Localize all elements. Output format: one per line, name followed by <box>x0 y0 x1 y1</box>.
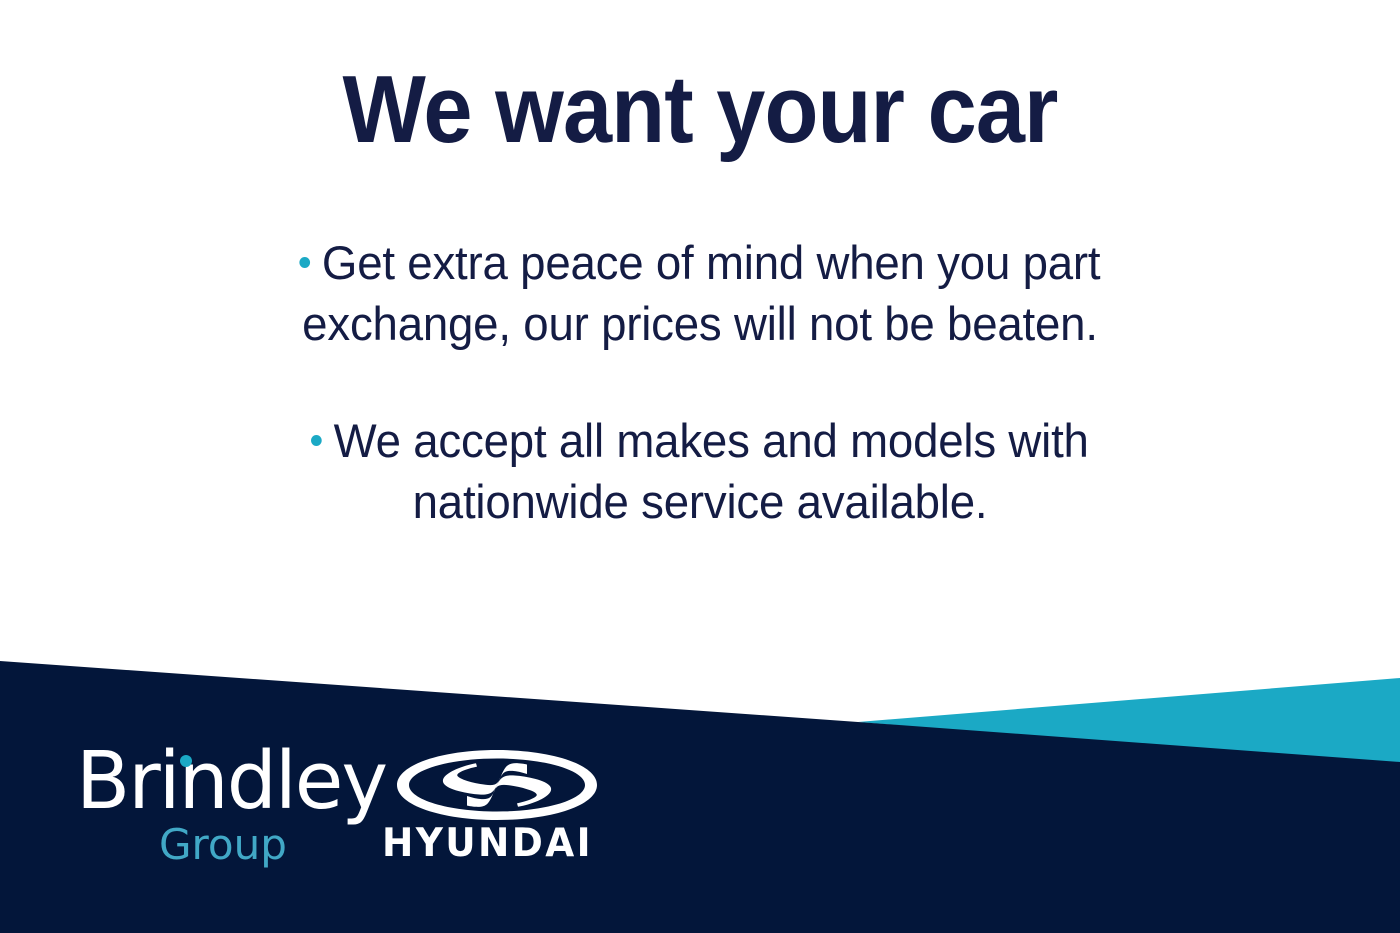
list-item: We accept all makes and models with nati… <box>205 410 1194 532</box>
hyundai-logo: HYUNDAI <box>382 742 612 874</box>
brindley-group-logo: Brindley Group <box>76 742 338 874</box>
hyundai-wordmark: HYUNDAI <box>382 824 593 863</box>
hyundai-emblem-icon <box>394 748 600 822</box>
bullet-dot-icon <box>300 257 311 268</box>
teal-wedge-shape <box>858 678 1400 766</box>
list-item: Get extra peace of mind when you part ex… <box>205 232 1194 354</box>
bullet-list: Get extra peace of mind when you part ex… <box>190 232 1210 532</box>
list-item-text: We accept all makes and models with nati… <box>334 414 1089 528</box>
page-title: We want your car <box>56 62 1344 158</box>
list-item-text: Get extra peace of mind when you part ex… <box>302 236 1100 350</box>
promo-poster: We want your car Get extra peace of mind… <box>0 0 1400 933</box>
brindley-dot-icon <box>180 755 192 767</box>
logo-row: Brindley Group HYUNDAI <box>76 742 612 874</box>
brindley-wordmark: Brindley <box>76 742 386 821</box>
brindley-subtitle: Group <box>159 824 287 866</box>
bullet-dot-icon <box>311 435 322 446</box>
